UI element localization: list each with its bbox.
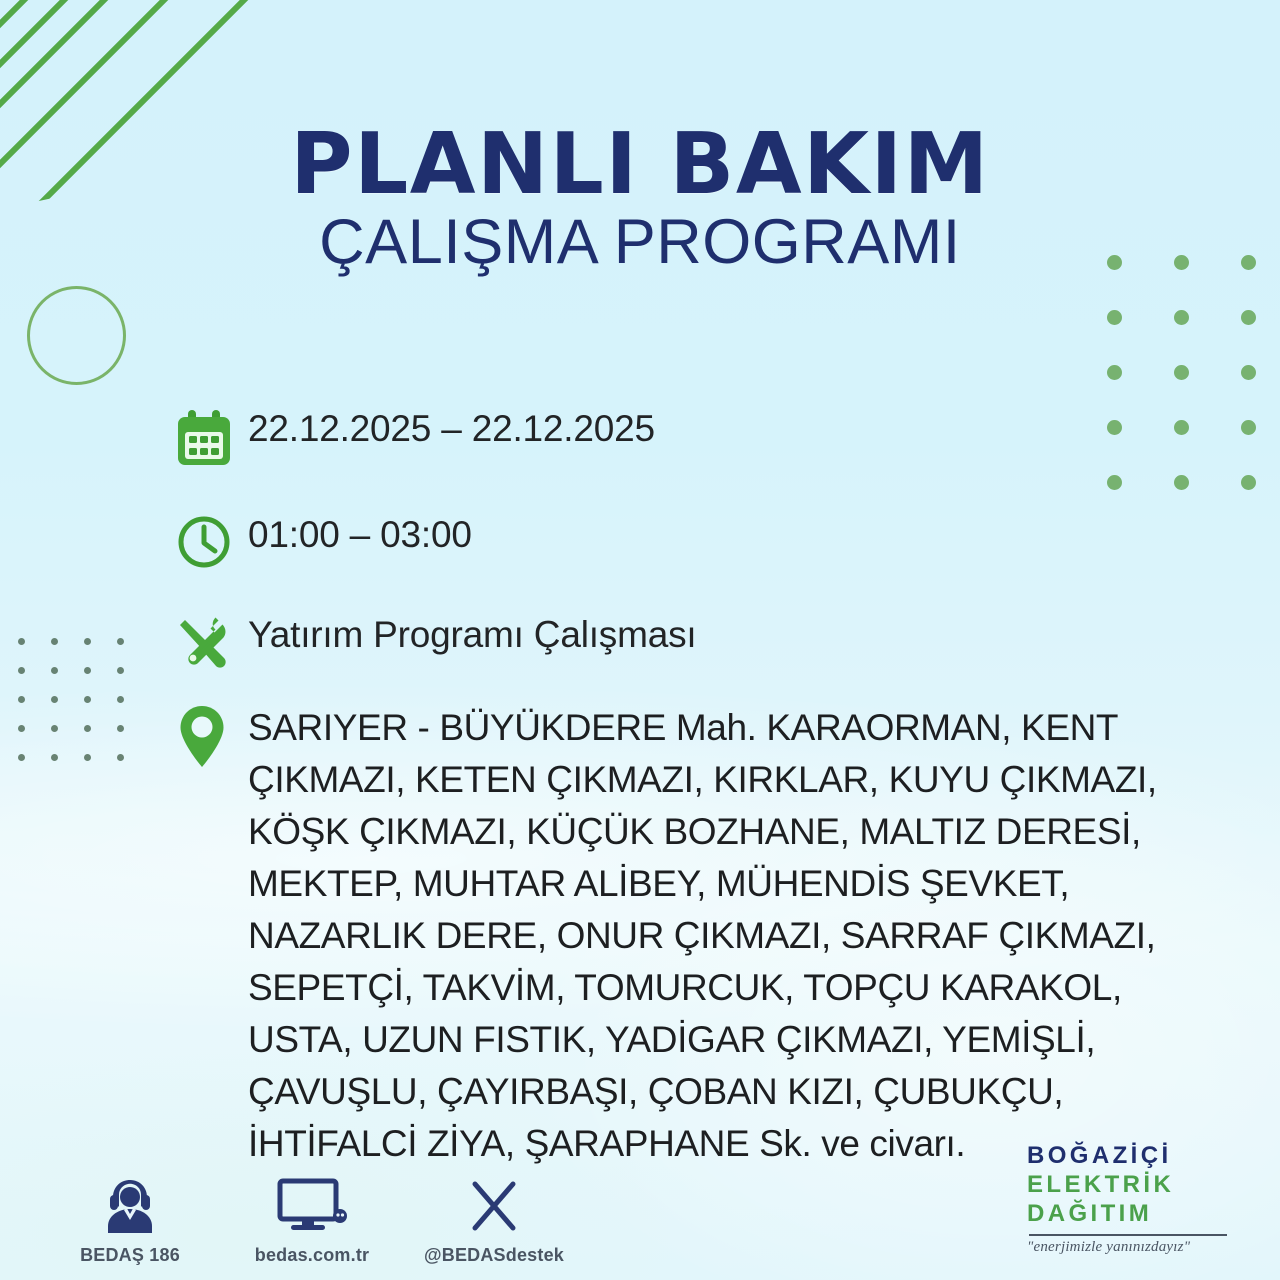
page-title: PLANLI BAKIM: [0, 122, 1280, 207]
dot-grid-left-decoration: [18, 638, 150, 783]
brand-divider: [1029, 1234, 1227, 1236]
footer-contacts: BEDAŞ 186 bedas.com.tr: [56, 1174, 568, 1266]
circle-decoration: [27, 286, 126, 385]
contact-website-label: bedas.com.tr: [238, 1245, 386, 1266]
monitor-icon: [238, 1174, 386, 1236]
clock-icon: [176, 510, 248, 570]
time-range-text: 01:00 – 03:00: [248, 510, 472, 555]
calendar-icon: [176, 404, 248, 468]
contact-social[interactable]: @BEDASdestek: [420, 1174, 568, 1266]
date-range-text: 22.12.2025 – 22.12.2025: [248, 404, 655, 449]
info-row-location: SARIYER - BÜYÜKDERE Mah. KARAORMAN, KENT…: [176, 700, 1236, 1170]
brand-logo: BOĞAZİÇİ ELEKTRİK DAĞITIM "enerjimizle y…: [1027, 1141, 1242, 1256]
tools-icon: [176, 610, 248, 670]
brand-tagline: "enerjimizle yanınızdayız": [1027, 1239, 1242, 1256]
info-row-date: 22.12.2025 – 22.12.2025: [176, 404, 1236, 468]
address-text: SARIYER - BÜYÜKDERE Mah. KARAORMAN, KENT…: [248, 700, 1208, 1170]
work-type-text: Yatırım Programı Çalışması: [248, 610, 696, 655]
contact-phone-label: BEDAŞ 186: [56, 1245, 204, 1266]
support-agent-icon: [56, 1174, 204, 1236]
contact-phone[interactable]: BEDAŞ 186: [56, 1174, 204, 1266]
x-social-icon: [420, 1174, 568, 1236]
contact-website[interactable]: bedas.com.tr: [238, 1174, 386, 1266]
page-subtitle: ÇALIŞMA PROGRAMI: [0, 209, 1280, 275]
info-row-time: 01:00 – 03:00: [176, 510, 1236, 570]
brand-line-1: BOĞAZİÇİ: [1027, 1141, 1242, 1170]
poster-canvas: PLANLI BAKIM ÇALIŞMA PROGRAMI: [0, 0, 1280, 1280]
info-row-work-type: Yatırım Programı Çalışması: [176, 610, 1236, 670]
info-list: 22.12.2025 – 22.12.2025 01:00 – 03:00: [176, 404, 1236, 1196]
contact-social-label: @BEDASdestek: [420, 1245, 568, 1266]
location-pin-icon: [176, 700, 248, 770]
diagonal-stripes-decoration: [0, 0, 272, 207]
brand-line-3: DAĞITIM: [1027, 1199, 1242, 1228]
page-title-block: PLANLI BAKIM ÇALIŞMA PROGRAMI: [0, 122, 1280, 275]
brand-line-2: ELEKTRİK: [1027, 1170, 1242, 1199]
